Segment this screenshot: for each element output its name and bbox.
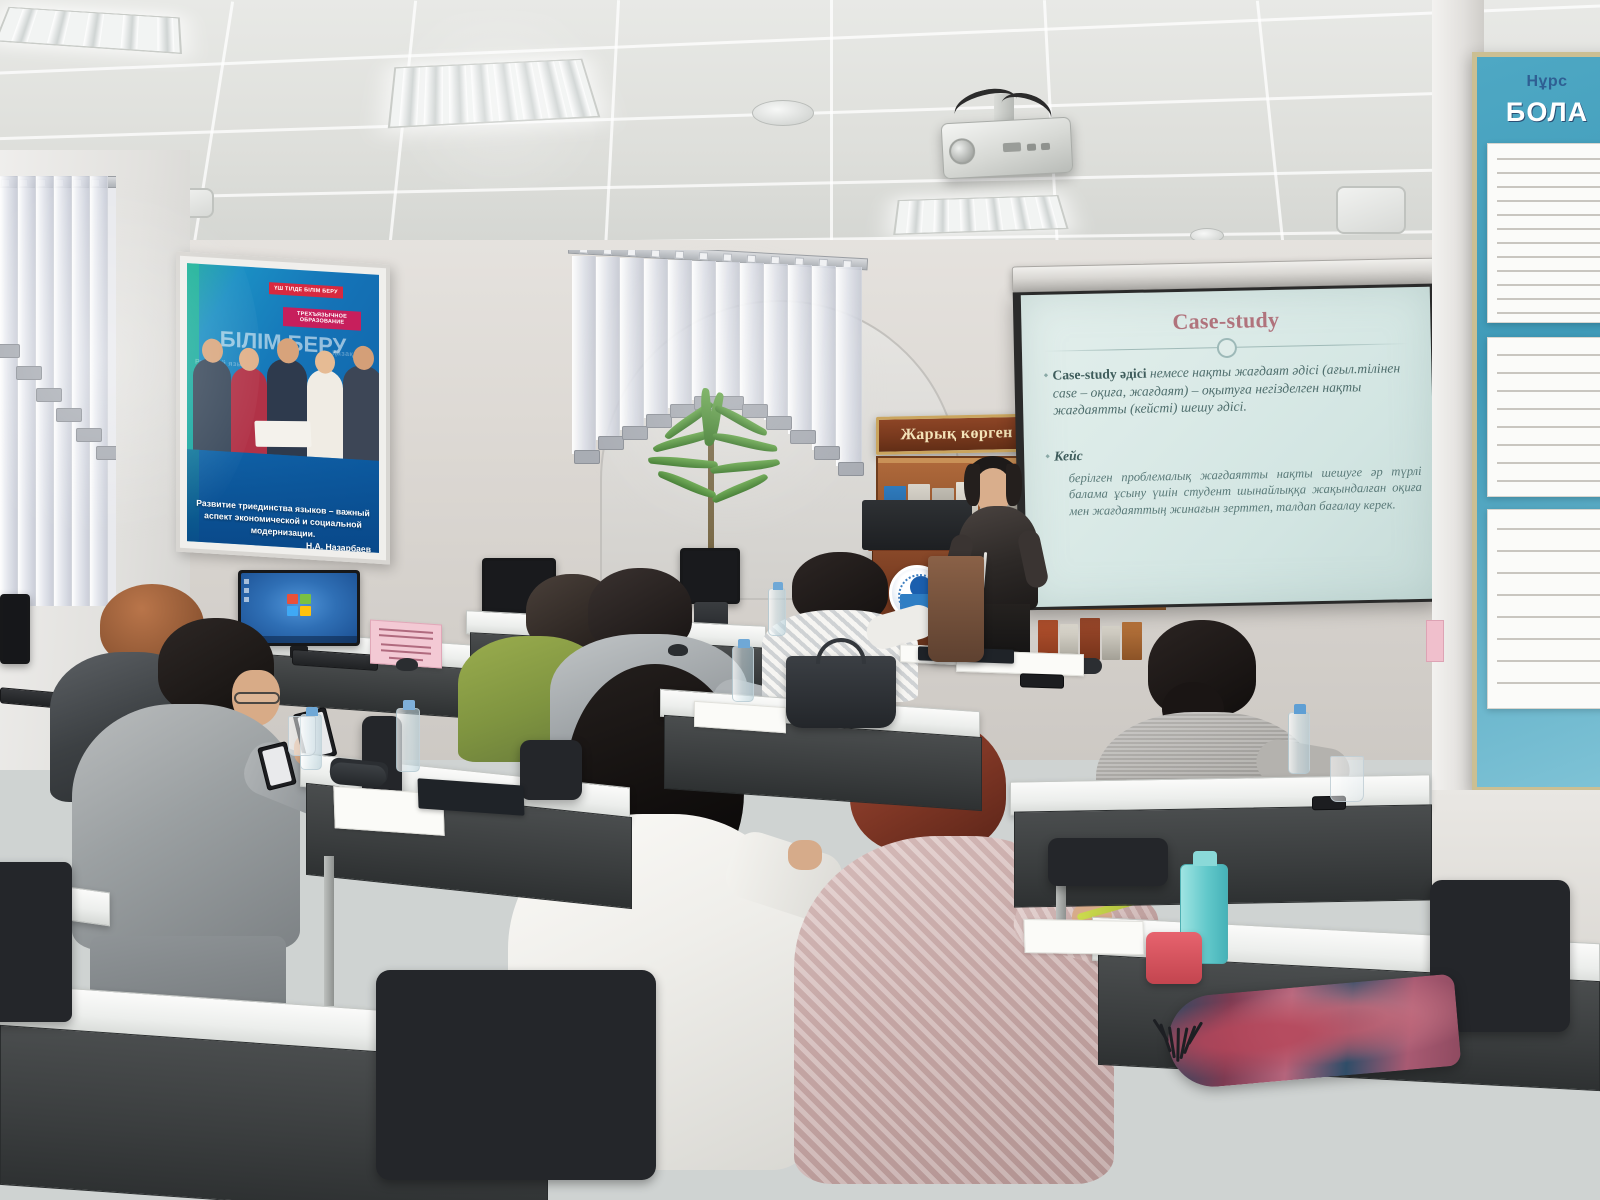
projector-lens (948, 138, 975, 165)
desktop-icon (244, 597, 249, 602)
poster-right-title-line1: Нұрс (1477, 73, 1600, 91)
slide-title: Case-study (1021, 304, 1430, 339)
ceiling-light-glow (360, 10, 640, 190)
mouse[interactable] (668, 644, 688, 656)
poster-student (307, 369, 343, 459)
windows-logo-icon (287, 594, 311, 616)
presenter-hair-side (964, 464, 980, 506)
pink-desk-sign (1426, 620, 1444, 662)
water-bottle[interactable] (768, 588, 786, 636)
ac-vent (1336, 186, 1406, 234)
ceiling-light-panel (893, 195, 1068, 235)
poster-right-sheet (1487, 337, 1600, 497)
desktop-icon (244, 588, 249, 593)
poster-student (343, 365, 379, 461)
water-bottle[interactable] (1288, 712, 1310, 774)
handbag[interactable] (786, 656, 896, 728)
chair[interactable] (376, 970, 656, 1180)
classroom-scene: БІЛІМ БЕРУ Русский язык Қазақ тілі Engli… (0, 0, 1600, 1200)
smartphone[interactable] (1020, 673, 1064, 689)
poster-right-title-line2: БОЛА (1477, 97, 1600, 128)
projector-port (1027, 143, 1036, 150)
mouse[interactable] (396, 658, 418, 671)
ceiling (0, 0, 1600, 270)
slide-ring-ornament (1216, 338, 1236, 358)
monitor-screen (3, 597, 27, 661)
poster-badge-kazakh: ҮШ ТІЛДЕ БІЛІМ БЕРУ (269, 282, 343, 299)
window-glow (560, 240, 900, 540)
slide-bullet-1: Case-study әдісі немесе нақты жағдаят әд… (1052, 359, 1418, 420)
poster-right-sheet (1487, 143, 1600, 323)
plastic-cup[interactable] (288, 716, 316, 756)
poster-badge-russian: ТРЕХЪЯЗЫЧНОЕ ОБРАЗОВАНИЕ (283, 307, 361, 330)
projector-port (1003, 142, 1021, 152)
desk-leg (324, 856, 334, 1006)
poster-open-book (254, 421, 311, 448)
poster-right-sheet (1487, 509, 1600, 709)
ceiling-light-panel (0, 7, 182, 54)
projection-screen: Case-study Case-study әдісі немесе нақты… (1013, 284, 1440, 611)
projector-body (941, 117, 1074, 180)
slide-bullet-2-body: берілген проблемалық жағдаятты нақты шеш… (1068, 463, 1422, 519)
handbag-brown[interactable] (928, 556, 984, 662)
desktop-icon (244, 579, 249, 584)
water-bottle[interactable] (396, 708, 420, 772)
eyeglasses[interactable] (234, 692, 280, 704)
smoke-detector (752, 100, 814, 126)
pencil-case-red[interactable] (1146, 932, 1202, 984)
monitor-back-left-2[interactable] (0, 594, 30, 664)
presentation-slide: Case-study Case-study әдісі немесе нақты… (1021, 287, 1436, 607)
plastic-cup[interactable] (1330, 756, 1364, 802)
chair[interactable] (0, 862, 72, 1022)
slide-bullet-2-head: Кейс (1054, 447, 1083, 465)
chair[interactable] (520, 740, 582, 800)
paper-sheet (1023, 919, 1144, 955)
projector-port (1041, 143, 1050, 150)
poster-bolashak: Нұрс БОЛА (1472, 52, 1600, 792)
chair[interactable] (1048, 838, 1168, 886)
water-bottle[interactable] (732, 646, 754, 702)
slide-bullet-1-bold: Case-study әдісі (1052, 366, 1146, 383)
presenter-hair-side (1006, 464, 1022, 506)
